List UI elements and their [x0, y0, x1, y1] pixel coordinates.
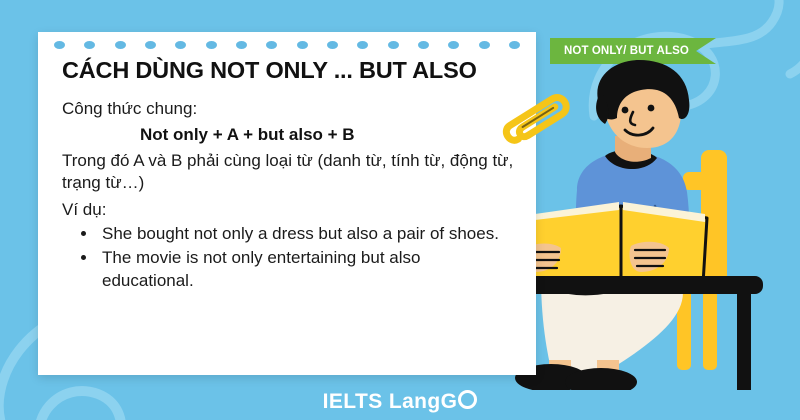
note-card: CÁCH DÙNG NOT ONLY ... BUT ALSO Công thứ… [38, 32, 536, 375]
punch-hole [418, 41, 429, 49]
punch-hole [206, 41, 217, 49]
punch-hole [479, 41, 490, 49]
brand-text: IELTS LangG [323, 390, 458, 413]
punch-hole [236, 41, 247, 49]
page-title: CÁCH DÙNG NOT ONLY ... BUT ALSO [62, 58, 514, 84]
paperclip-icon [498, 82, 576, 154]
punch-hole [448, 41, 459, 49]
list-item: The movie is not only entertaining but a… [98, 247, 514, 293]
punch-hole [357, 41, 368, 49]
punch-hole [115, 41, 126, 49]
punch-hole [509, 41, 520, 49]
examples-list: She bought not only a dress but also a p… [62, 223, 514, 292]
punch-hole [145, 41, 156, 49]
brand-logo: IELTS LangG [0, 390, 800, 414]
punch-hole [175, 41, 186, 49]
punch-hole-row [38, 41, 536, 49]
brand-o-icon [458, 390, 477, 409]
punch-hole [266, 41, 277, 49]
punch-hole [54, 41, 65, 49]
card-content: CÁCH DÙNG NOT ONLY ... BUT ALSO Công thứ… [38, 58, 536, 294]
punch-hole [388, 41, 399, 49]
formula-label: Công thức chung: [62, 98, 514, 121]
punch-hole [297, 41, 308, 49]
formula-text: Not only + A + but also + B [62, 124, 514, 146]
poster-canvas: NOT ONLY/ BUT ALSO [0, 0, 800, 420]
examples-label: Ví dụ: [62, 199, 514, 222]
punch-hole [84, 41, 95, 49]
rule-text: Trong đó A và B phải cùng loại từ (danh … [62, 150, 514, 195]
punch-hole [327, 41, 338, 49]
list-item: She bought not only a dress but also a p… [98, 223, 514, 246]
